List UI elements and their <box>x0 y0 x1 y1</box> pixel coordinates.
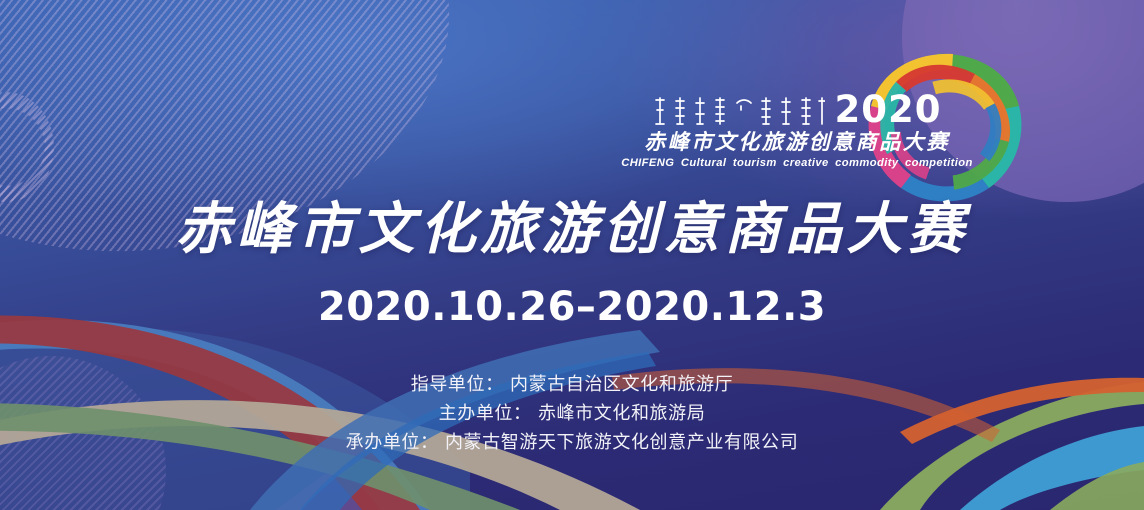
organizer-list: 指导单位： 内蒙古自治区文化和旅游厅 主办单位： 赤峰市文化和旅游局 承办单位：… <box>0 370 1144 457</box>
event-logo: 2020 赤峰市文化旅游创意商品大赛 CHIFENG Cultural tour… <box>612 62 1032 188</box>
promotional-banner: 2020 赤峰市文化旅游创意商品大赛 CHIFENG Cultural tour… <box>0 0 1144 510</box>
striped-ring-decoration-left <box>0 92 54 202</box>
page-title: 赤峰市文化旅游创意商品大赛 <box>0 202 1144 258</box>
logo-chinese-name: 赤峰市文化旅游创意商品大赛 <box>612 131 982 154</box>
organizer-line-host: 主办单位： 赤峰市文化和旅游局 <box>0 399 1144 428</box>
logo-year-text: 2020 <box>835 91 942 128</box>
organizer-line-guidance: 指导单位： 内蒙古自治区文化和旅游厅 <box>0 370 1144 399</box>
logo-text-column: 2020 赤峰市文化旅游创意商品大赛 CHIFENG Cultural tour… <box>612 88 982 169</box>
event-date-range: 2020.10.26–2020.12.3 <box>0 287 1144 327</box>
mongolian-script-title-icon <box>653 94 825 128</box>
logo-english-name: CHIFENG Cultural tourism creative commod… <box>612 157 982 169</box>
organizer-line-undertaker: 承办单位： 内蒙古智游天下旅游文化创意产业有限公司 <box>0 428 1144 457</box>
logo-top-row: 2020 <box>612 88 982 128</box>
